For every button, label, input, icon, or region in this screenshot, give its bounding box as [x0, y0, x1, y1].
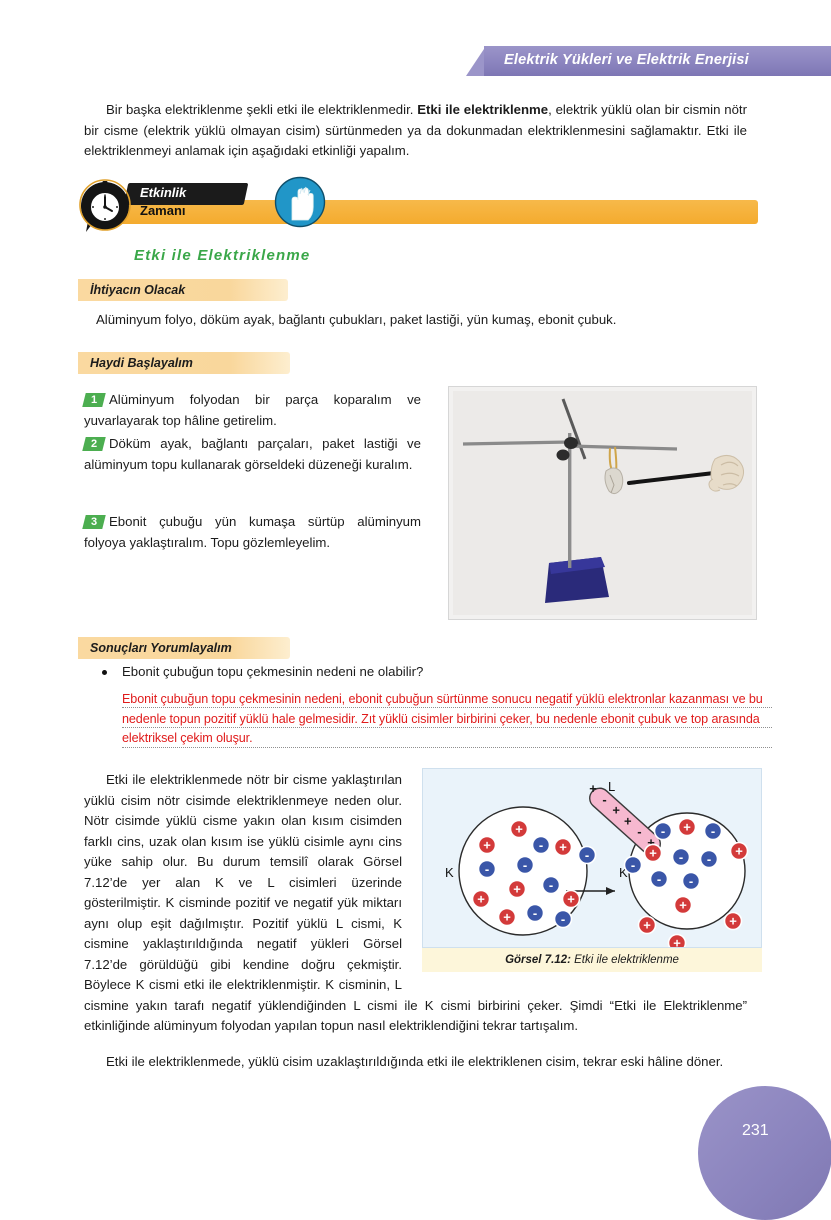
materials-heading: İhtiyacın Olacak	[90, 283, 185, 297]
safety-glove-icon	[274, 176, 326, 228]
activity-banner-label-line1: Etkinlik	[140, 185, 186, 200]
svg-text:-: -	[533, 906, 537, 921]
svg-text:-: -	[707, 852, 711, 867]
svg-text:-: -	[631, 858, 635, 873]
page-number: 231	[742, 1122, 769, 1140]
results-heading: Sonuçları Yorumlayalım	[90, 641, 232, 655]
step-text-3: Ebonit çubuğu yün kumaşa sürtüp alüminyu…	[84, 514, 421, 550]
svg-text:-: -	[539, 838, 543, 853]
svg-text:-: -	[523, 858, 527, 873]
svg-text:+: +	[559, 840, 567, 855]
svg-text:-: -	[549, 878, 553, 893]
step-badge-2: 2	[82, 437, 105, 451]
figure-caption-label: Görsel 7.12:	[505, 954, 571, 966]
rod-sign: -	[602, 792, 606, 807]
stopwatch-icon	[78, 178, 132, 234]
svg-text:+: +	[643, 918, 651, 933]
chapter-header-banner: Elektrik Yükleri ve Elektrik Enerjisi	[466, 46, 831, 76]
activity-question: Ebonit çubuğun topu çekmesinin nedeni ne…	[122, 662, 762, 683]
figure-caption-text: Etki ile elektriklenme	[574, 954, 679, 966]
figure-left-label: K	[445, 865, 454, 880]
step-text-1: Alüminyum folyodan bir parça koparalım v…	[84, 392, 421, 428]
svg-text:+: +	[567, 892, 575, 907]
figure-rod-label: L	[608, 779, 615, 794]
intro-paragraph: Bir başka elektriklenme şekli etki ile e…	[84, 100, 747, 162]
svg-text:-: -	[561, 912, 565, 927]
svg-text:-: -	[661, 824, 665, 839]
svg-text:+: +	[735, 844, 743, 859]
chapter-title: Elektrik Yükleri ve Elektrik Enerjisi	[504, 52, 749, 68]
activity-banner: Etkinlik Zamanı	[78, 178, 758, 240]
start-heading-pill: Haydi Başlayalım	[78, 352, 290, 374]
rod-sign: -	[637, 824, 641, 839]
results-heading-pill: Sonuçları Yorumlayalım	[78, 637, 290, 659]
svg-text:+: +	[729, 914, 737, 929]
svg-text:+: +	[515, 822, 523, 837]
svg-text:+: +	[683, 820, 691, 835]
svg-text:+: +	[679, 898, 687, 913]
materials-text: Alüminyum folyo, döküm ayak, bağlantı çu…	[96, 310, 756, 331]
step-badge-1: 1	[82, 393, 105, 407]
activity-banner-label-line2: Zamanı	[140, 203, 186, 218]
svg-text:-: -	[711, 824, 715, 839]
header-wedge	[466, 46, 486, 76]
svg-text:+: +	[483, 838, 491, 853]
rod-sign: +	[589, 781, 597, 796]
svg-text:+: +	[513, 882, 521, 897]
svg-text:-: -	[657, 872, 661, 887]
page-number-circle	[698, 1086, 831, 1220]
rod-sign: +	[612, 803, 620, 818]
svg-text:+: +	[477, 892, 485, 907]
lab-setup-photo	[448, 386, 757, 620]
step-badge-3: 3	[82, 515, 105, 529]
figure-caption: Görsel 7.12: Etki ile elektriklenme	[422, 948, 762, 972]
student-answer[interactable]: Ebonit çubuğun topu çekmesinin nedeni, e…	[122, 690, 772, 749]
svg-text:-: -	[679, 850, 683, 865]
question-bullet-icon	[102, 670, 107, 675]
step-item-3: 3Ebonit çubuğu yün kumaşa sürtüp alüminy…	[84, 512, 421, 553]
start-heading: Haydi Başlayalım	[90, 356, 193, 370]
explanation-paragraph-2: Etki ile elektriklenmede, yüklü cisim uz…	[84, 1052, 747, 1073]
svg-text:+: +	[649, 846, 657, 861]
svg-text:-: -	[689, 874, 693, 889]
materials-heading-pill: İhtiyacın Olacak	[78, 279, 288, 301]
step-text-2: Döküm ayak, bağlantı parçaları, paket la…	[84, 436, 421, 472]
rod-sign: +	[624, 813, 632, 828]
activity-title: Etki ile Elektriklenme	[134, 247, 310, 264]
svg-text:+: +	[503, 910, 511, 925]
svg-text:+: +	[673, 936, 681, 947]
svg-text:-: -	[485, 862, 489, 877]
step-item-1: 1Alüminyum folyodan bir parça koparalım …	[84, 390, 421, 431]
figure-influence-charging: K K L +-++-+ ++-+---+-+++-- -+-++-----++…	[422, 768, 762, 948]
svg-text:-: -	[585, 848, 589, 863]
step-item-2: 2Döküm ayak, bağlantı parçaları, paket l…	[84, 434, 421, 475]
